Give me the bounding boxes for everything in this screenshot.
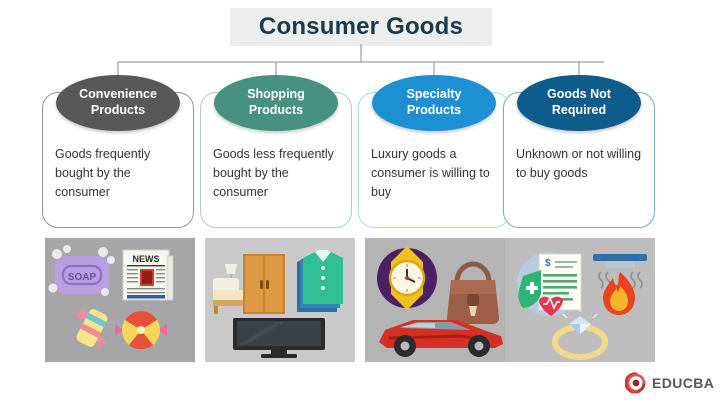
category-heading-line2: Products	[407, 103, 461, 119]
watch-icon	[377, 246, 437, 310]
educba-mark-icon	[625, 372, 647, 394]
category-heading-line1: Goods Not	[547, 87, 611, 103]
category-column-goods-not-required: Goods Not Required Unknown or not willin…	[503, 92, 655, 228]
illustration-panel-goods-not-required: $	[505, 238, 655, 362]
category-description: Goods frequently bought by the consumer	[55, 145, 185, 201]
fire-icon	[603, 272, 635, 315]
connector-arrowheads	[114, 81, 583, 88]
category-heading-badge: Goods Not Required	[517, 75, 641, 131]
shirts-icon	[297, 250, 343, 312]
category-column-convenience: Convenience Products Goods frequently bo…	[42, 92, 194, 228]
educba-wordmark: EDUCBA	[652, 375, 714, 391]
diamond-ring-icon	[555, 308, 605, 357]
category-heading-badge: Shopping Products	[214, 75, 338, 131]
category-heading-line2: Required	[552, 103, 606, 119]
newspaper-icon: NEWS	[123, 250, 173, 300]
category-card: Specialty Products Luxury goods a consum…	[358, 92, 510, 228]
currency-icon: $	[545, 258, 551, 269]
category-heading-line1: Shopping	[247, 87, 305, 103]
category-description: Luxury goods a consumer is willing to bu…	[371, 145, 501, 201]
candy-icon	[75, 307, 109, 348]
newspaper-label: NEWS	[133, 254, 160, 264]
category-column-specialty: Specialty Products Luxury goods a consum…	[358, 92, 510, 228]
category-heading-line2: Products	[91, 103, 145, 119]
illustration-panel-convenience: SOAP NEWS	[45, 238, 195, 362]
wardrobe-icon	[243, 254, 285, 314]
category-heading-badge: Convenience Products	[56, 75, 180, 131]
page-title: Consumer Goods	[259, 13, 463, 41]
television-icon	[233, 318, 325, 358]
educba-logo: EDUCBA	[625, 372, 714, 394]
category-description: Unknown or not willing to buy goods	[516, 145, 646, 183]
soap-label: SOAP	[68, 272, 97, 283]
category-card: Goods Not Required Unknown or not willin…	[503, 92, 655, 228]
diagram-title: Consumer Goods	[230, 8, 492, 46]
soap-icon: SOAP	[49, 245, 116, 296]
illustration-panel-specialty	[365, 238, 515, 362]
category-heading-line1: Specialty	[407, 87, 462, 103]
category-description: Goods less frequently bought by the cons…	[213, 145, 343, 201]
illustration-panel-shopping	[205, 238, 355, 362]
category-card: Convenience Products Goods frequently bo…	[42, 92, 194, 228]
insurance-document-icon: $	[517, 252, 581, 316]
category-column-shopping: Shopping Products Goods less frequently …	[200, 92, 352, 228]
sports-car-icon	[379, 320, 503, 357]
candy-swirl-icon	[115, 311, 167, 349]
handbag-icon	[447, 264, 499, 324]
category-heading-line2: Products	[249, 103, 303, 119]
category-heading-line1: Convenience	[79, 87, 157, 103]
category-card: Shopping Products Goods less frequently …	[200, 92, 352, 228]
category-heading-badge: Specialty Products	[372, 75, 496, 131]
